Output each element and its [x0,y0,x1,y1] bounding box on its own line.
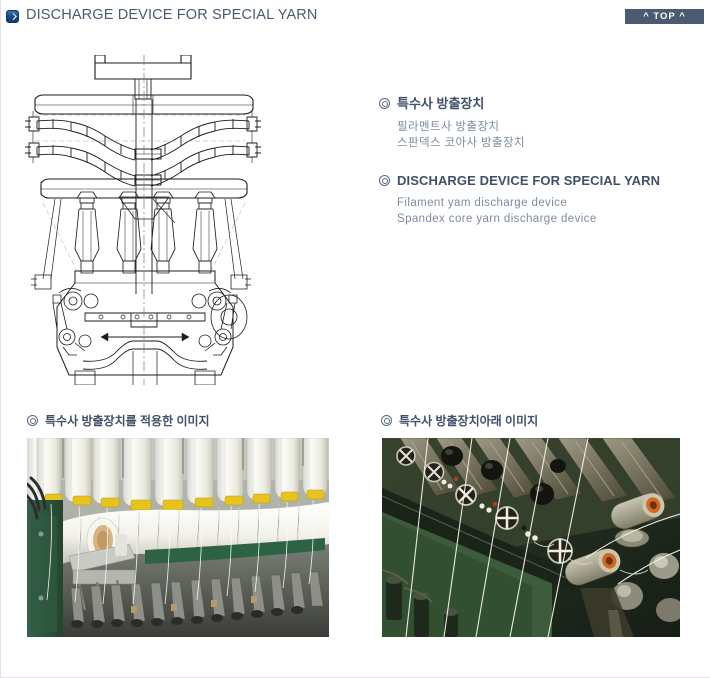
arrow-right-icon [6,10,19,23]
info-block-korean: 특수사 방출장치 필라멘트사 방출장치 스판덱스 코아사 방출장치 [379,93,699,151]
info-sub-english: Filament yam discharge device Spandex co… [397,195,699,227]
info-block-english: DISCHARGE DEVICE FOR SPECIAL YARN Filame… [379,173,699,227]
info-sub-line: 스판덱스 코아사 방출장치 [397,135,699,151]
caption-right-text: 특수사 방출장치아래 이미지 [399,412,538,429]
info-sub-line: Filament yam discharge device [397,195,699,211]
info-sub-korean: 필라멘트사 방출장치 스판덱스 코아사 방출장치 [397,119,699,151]
photo-machine-with-yarn-bobbins [27,438,329,637]
double-circle-icon [27,415,38,426]
photo-machine-underside-detail [382,438,680,637]
info-sub-line: 필라멘트사 방출장치 [397,119,699,135]
caption-left-text: 특수사 방출장치를 적용한 이미지 [45,412,210,429]
info-heading-korean-text: 특수사 방출장치 [397,93,484,112]
info-column: 특수사 방출장치 필라멘트사 방출장치 스판덱스 코아사 방출장치 DISCHA… [379,93,699,249]
caption-right-photo: 특수사 방출장치아래 이미지 [381,412,538,429]
double-circle-icon [381,415,392,426]
info-heading-english: DISCHARGE DEVICE FOR SPECIAL YARN [379,173,699,188]
page-title: DISCHARGE DEVICE FOR SPECIAL YARN [26,7,318,23]
top-button[interactable]: ^ TOP ^ [625,9,704,24]
info-sub-line: Spandex core yarn discharge device [397,211,699,227]
info-heading-korean: 특수사 방출장치 [379,93,699,112]
double-circle-icon [379,175,390,186]
double-circle-icon [379,98,390,109]
page-header: DISCHARGE DEVICE FOR SPECIAL YARN ^ TOP … [1,0,710,32]
schematic-drawing [23,55,343,385]
info-heading-english-text: DISCHARGE DEVICE FOR SPECIAL YARN [397,173,660,188]
caption-left-photo: 특수사 방출장치를 적용한 이미지 [27,412,210,429]
